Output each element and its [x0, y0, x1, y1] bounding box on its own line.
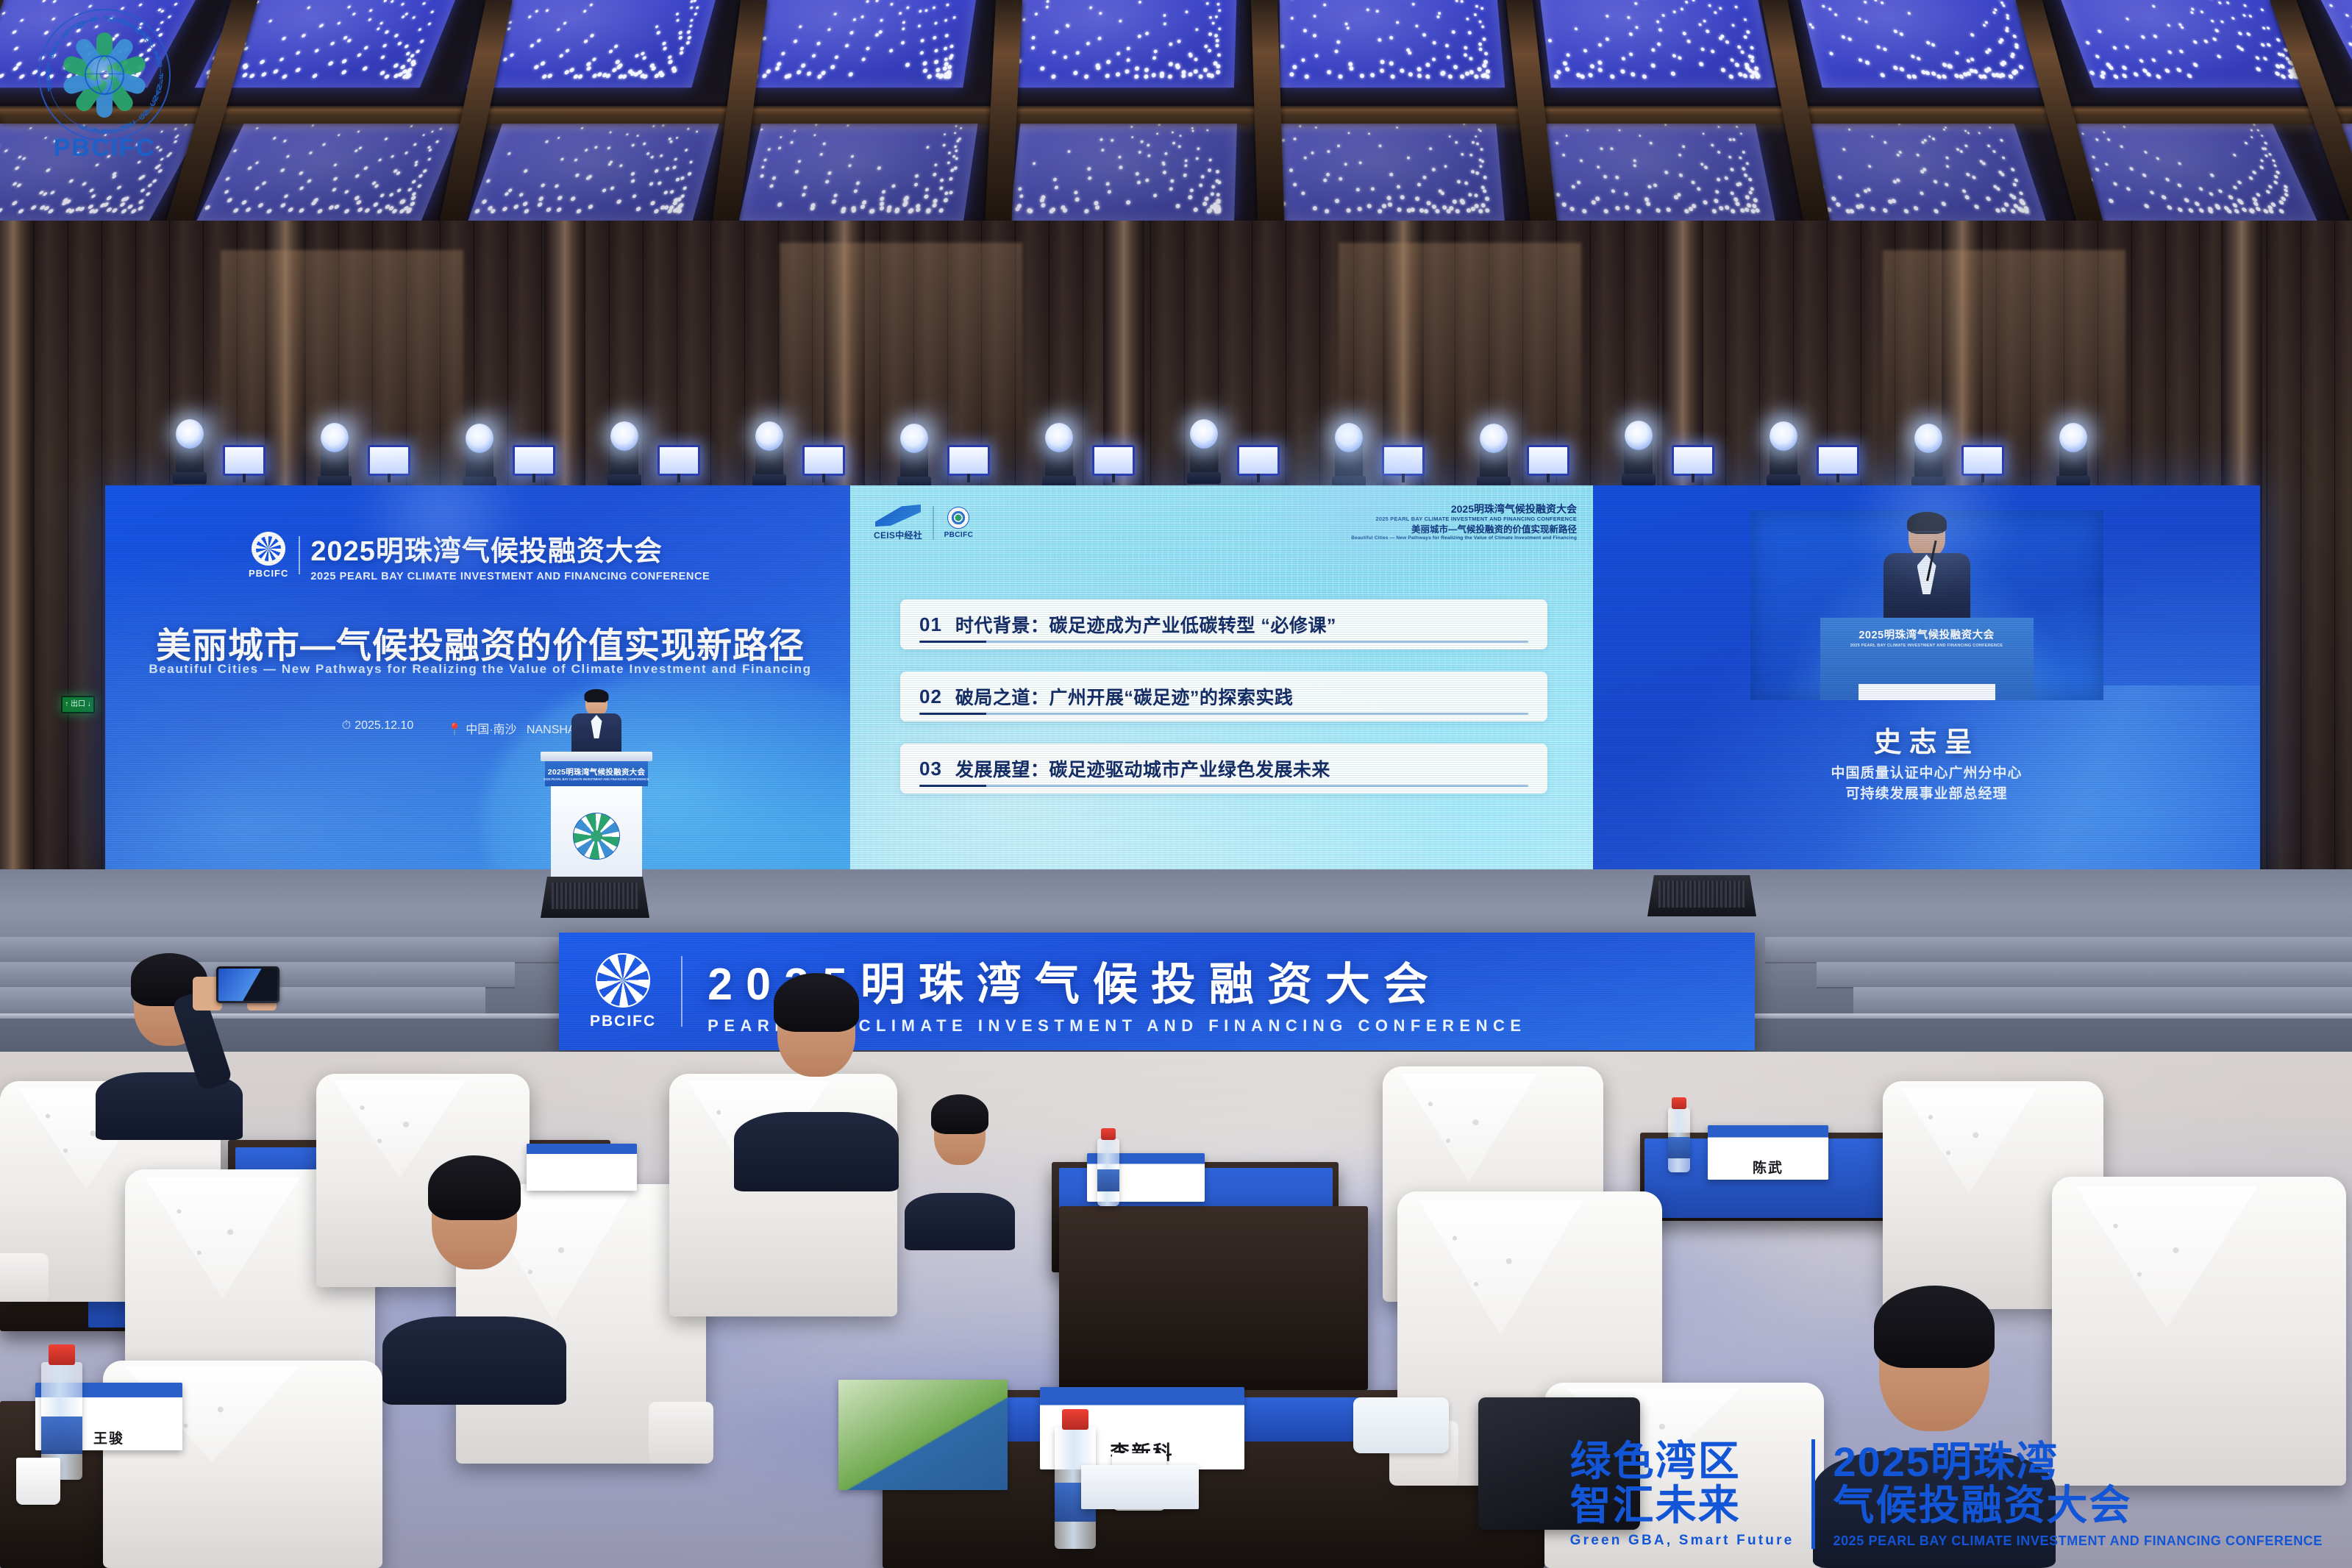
conference-title-en: 2025 PEARL BAY CLIMATE INVESTMENT AND FI…: [310, 571, 710, 582]
moving-head-spotlight: [463, 424, 496, 488]
name-card-back-left: [527, 1144, 637, 1191]
speaker-title-line1: 中国质量认证中心广州分中心: [1593, 763, 2260, 784]
pbcifc-banner-logo-icon: [596, 953, 650, 1008]
moving-head-spotlight: [1911, 424, 1945, 488]
agenda-item-text: 时代背景：碳足迹成为产业低碳转型 “必修课”: [955, 611, 1336, 638]
podium-plate-cn: 2025明珠湾气候投融资大会: [548, 766, 646, 777]
camera-feed: 2025明珠湾气候投融资大会 2025 PEARL BAY CLIMATE IN…: [1750, 510, 2103, 700]
agenda-item-rule: [919, 713, 1528, 715]
slide-brand-block: 2025明珠湾气候投融资大会 2025 PEARL BAY CLIMATE IN…: [1351, 503, 1577, 541]
event-meta: ⏱2025.12.10 📍中国·南沙 NANSHA, CHINA: [135, 719, 826, 737]
slide-brand-sub-cn: 美丽城市—气候投融资的价值实现新路径: [1351, 524, 1577, 535]
led-wash-light: [368, 445, 410, 476]
event-date: ⏱2025.12.10: [342, 719, 414, 737]
spotlight-lens-icon: [1190, 419, 1218, 449]
header-divider: [299, 536, 300, 574]
conference-photo: ↑ 出口 ↓ PBCIFC 2025明珠湾气候投融资大会 2025 PEARL …: [0, 0, 2352, 1568]
camera-podium-plate-cn: 2025明珠湾气候投融资大会: [1835, 627, 2019, 642]
slide-logo-divider: [933, 506, 934, 540]
led-wash-light: [1237, 445, 1280, 476]
agenda-item: 01时代背景：碳足迹成为产业低碳转型 “必修课”: [900, 599, 1547, 649]
talk-title-en: Beautiful Cities — New Pathways for Real…: [135, 662, 826, 677]
led-wash-light: [1672, 445, 1714, 476]
spotlight-lens-icon: [321, 423, 349, 452]
agenda-item-text: 发展展望：碳足迹驱动城市产业绿色发展未来: [955, 755, 1330, 782]
slide-brand-en: 2025 PEARL BAY CLIMATE INVESTMENT AND FI…: [1351, 516, 1577, 522]
audience-person-photographer: [103, 963, 235, 1140]
stage-monitor-right: [1647, 875, 1756, 916]
podium-plate-en: 2025 PEARL BAY CLIMATE INVESTMENT AND FI…: [544, 777, 649, 781]
slide-sponsor-logos: CEIS中经社 PBCIFC: [874, 505, 973, 541]
agenda-item-number: 01: [919, 613, 942, 636]
paper-cup-left: [16, 1458, 60, 1505]
moving-head-spotlight: [607, 421, 641, 486]
watermark-divider: [1811, 1439, 1815, 1549]
moving-head-spotlight: [1767, 421, 1800, 486]
table-center: [1059, 1206, 1368, 1390]
led-wash-light: [947, 445, 990, 476]
spotlight-lens-icon: [176, 419, 204, 449]
agenda-item-number: 02: [919, 685, 942, 708]
camera-feed-speaker: [1880, 515, 1974, 625]
clock-icon: ⏱: [342, 719, 351, 732]
audience-person-2: [390, 1169, 559, 1405]
podium-logo-icon: [573, 813, 620, 860]
ceis-logo-icon: [875, 505, 921, 527]
ceis-logo-label: CEIS中经社: [874, 529, 922, 541]
water-bottle-back: [1097, 1138, 1119, 1206]
podium-plate: 2025明珠湾气候投融资大会 2025 PEARL BAY CLIMATE IN…: [545, 761, 648, 786]
conference-title-cn: 2025明珠湾气候投融资大会: [310, 528, 710, 569]
moving-head-spotlight: [1622, 421, 1656, 485]
agenda-item-number: 03: [919, 758, 942, 780]
stage-monitor-left: [541, 877, 649, 918]
watermark-bottom-right: 绿色湾区 智汇未来 Green GBA, Smart Future 2025明珠…: [1570, 1439, 2323, 1549]
moving-head-spotlight: [897, 424, 931, 488]
led-wash-light: [658, 445, 700, 476]
name-card-right-name: 陈武: [1753, 1157, 1783, 1177]
led-left-panel: PBCIFC 2025明珠湾气候投融资大会 2025 PEARL BAY CLI…: [105, 485, 850, 871]
spotlight-lens-icon: [1480, 424, 1508, 453]
camera-podium-plate-en: 2025 PEARL BAY CLIMATE INVESTMENT AND FI…: [1835, 644, 2019, 648]
pbcifc-banner-logo-label: PBCIFC: [590, 1013, 656, 1030]
conference-header: PBCIFC 2025明珠湾气候投融资大会 2025 PEARL BAY CLI…: [249, 528, 710, 582]
camera-feed-podium: 2025明珠湾气候投融资大会 2025 PEARL BAY CLIMATE IN…: [1820, 618, 2034, 700]
name-card-right: 陈武: [1708, 1125, 1828, 1180]
pbcifc-logo-label: PBCIFC: [249, 568, 288, 579]
moving-head-spotlight: [2056, 423, 2090, 488]
agenda-item-rule: [919, 641, 1528, 643]
event-name-line-2: 气候投融资大会: [1833, 1483, 2323, 1527]
slide-brand-sub-en: Beautiful Cities — New Pathways for Real…: [1351, 535, 1577, 541]
slogan-line-1: 绿色湾区: [1570, 1439, 1795, 1483]
spotlight-lens-icon: [1770, 421, 1797, 451]
water-bottle-right: [1668, 1108, 1690, 1172]
led-wash-light: [802, 445, 845, 476]
led-right-panel: 2025明珠湾气候投融资大会 2025 PEARL BAY CLIMATE IN…: [1593, 485, 2260, 871]
conference-booklet: [838, 1380, 1008, 1490]
pbcifc-logo-icon: [252, 532, 285, 566]
speaker-title: 中国质量认证中心广州分中心 可持续发展事业部总经理: [1593, 763, 2260, 804]
led-wash-light: [1817, 445, 1859, 476]
led-center-slide: CEIS中经社 PBCIFC 2025明珠湾气候投融资大会 2025 PEARL…: [850, 485, 1593, 871]
moving-head-spotlight: [173, 419, 207, 484]
event-name-en: 2025 PEARL BAY CLIMATE INVESTMENT AND FI…: [1833, 1533, 2323, 1549]
pbcifc-slide-logo-icon: [947, 507, 969, 529]
audience-person-3: [743, 986, 890, 1191]
event-name-line-1: 2025明珠湾: [1833, 1440, 2323, 1483]
lighting-rig: [0, 0, 2352, 485]
agenda-item: 03发展展望：碳足迹驱动城市产业绿色发展未来: [900, 744, 1547, 794]
led-video-wall: PBCIFC 2025明珠湾气候投融资大会 2025 PEARL BAY CLI…: [105, 485, 2260, 871]
moving-head-spotlight: [1477, 424, 1511, 488]
watermark-abbr: PBCIFC: [32, 134, 177, 163]
pbcifc-flower-icon: [57, 28, 152, 122]
agenda-item: 02破局之道：广州开展“碳足迹”的探索实践: [900, 671, 1547, 721]
led-wash-light: [1382, 445, 1425, 476]
led-wash-light: [1961, 445, 2004, 476]
spotlight-lens-icon: [2059, 423, 2087, 452]
moving-head-spotlight: [1332, 423, 1366, 488]
spotlight-lens-icon: [1335, 423, 1363, 452]
audience-person-4: [912, 1103, 1008, 1250]
led-wash-light: [1092, 445, 1135, 476]
spotlight-lens-icon: [466, 424, 493, 453]
speaker-name: 史志呈: [1593, 719, 2260, 760]
exit-sign-label: ↑ 出口 ↓: [65, 701, 91, 708]
spotlight-lens-icon: [1045, 423, 1073, 452]
moving-head-spotlight: [318, 423, 352, 488]
spotlight-lens-icon: [900, 424, 928, 453]
glasses-icon: [587, 702, 606, 706]
spotlight-lens-icon: [610, 421, 638, 451]
watermark-top-left: PEARL BAY CLIMATE INVESTMENT AND FINANCI…: [19, 4, 196, 149]
face-mask: [1353, 1397, 1449, 1453]
globe-icon: [85, 55, 124, 95]
exit-sign: ↑ 出口 ↓: [61, 696, 95, 713]
spotlight-lens-icon: [1914, 424, 1942, 453]
spotlight-lens-icon: [755, 421, 783, 451]
stage-front-banner: PBCIFC 2025明珠湾气候投融资大会 PEARL BAY CLIMATE …: [559, 933, 1755, 1050]
led-wash-light: [223, 445, 266, 476]
led-wash-light: [513, 445, 555, 476]
moving-head-spotlight: [752, 421, 786, 486]
glasses-icon: [1911, 531, 1943, 538]
agenda-item-text: 破局之道：广州开展“碳足迹”的探索实践: [955, 683, 1294, 710]
name-card-left-name: 王骏: [93, 1428, 124, 1447]
moving-head-spotlight: [1187, 419, 1221, 484]
agenda-item-rule: [919, 785, 1528, 787]
pbcifc-slide-logo-label: PBCIFC: [944, 531, 974, 539]
spotlight-lens-icon: [1625, 421, 1653, 450]
slide-brand-cn: 2025明珠湾气候投融资大会: [1351, 503, 1577, 516]
slide-agenda-list: 01时代背景：碳足迹成为产业低碳转型 “必修课”02破局之道：广州开展“碳足迹”…: [900, 599, 1547, 816]
paper-note: [1081, 1465, 1199, 1509]
moving-head-spotlight: [1042, 423, 1076, 488]
map-pin-icon: 📍: [447, 724, 462, 736]
led-wash-light: [1527, 445, 1569, 476]
slogan-en: Green GBA, Smart Future: [1570, 1533, 1795, 1549]
slogan-line-2: 智汇未来: [1570, 1483, 1795, 1527]
smartphone-icon: [216, 966, 279, 1003]
talk-title-cn: 美丽城市—气候投融资的价值实现新路径: [135, 616, 826, 668]
speaker-title-line2: 可持续发展事业部总经理: [1593, 784, 2260, 805]
